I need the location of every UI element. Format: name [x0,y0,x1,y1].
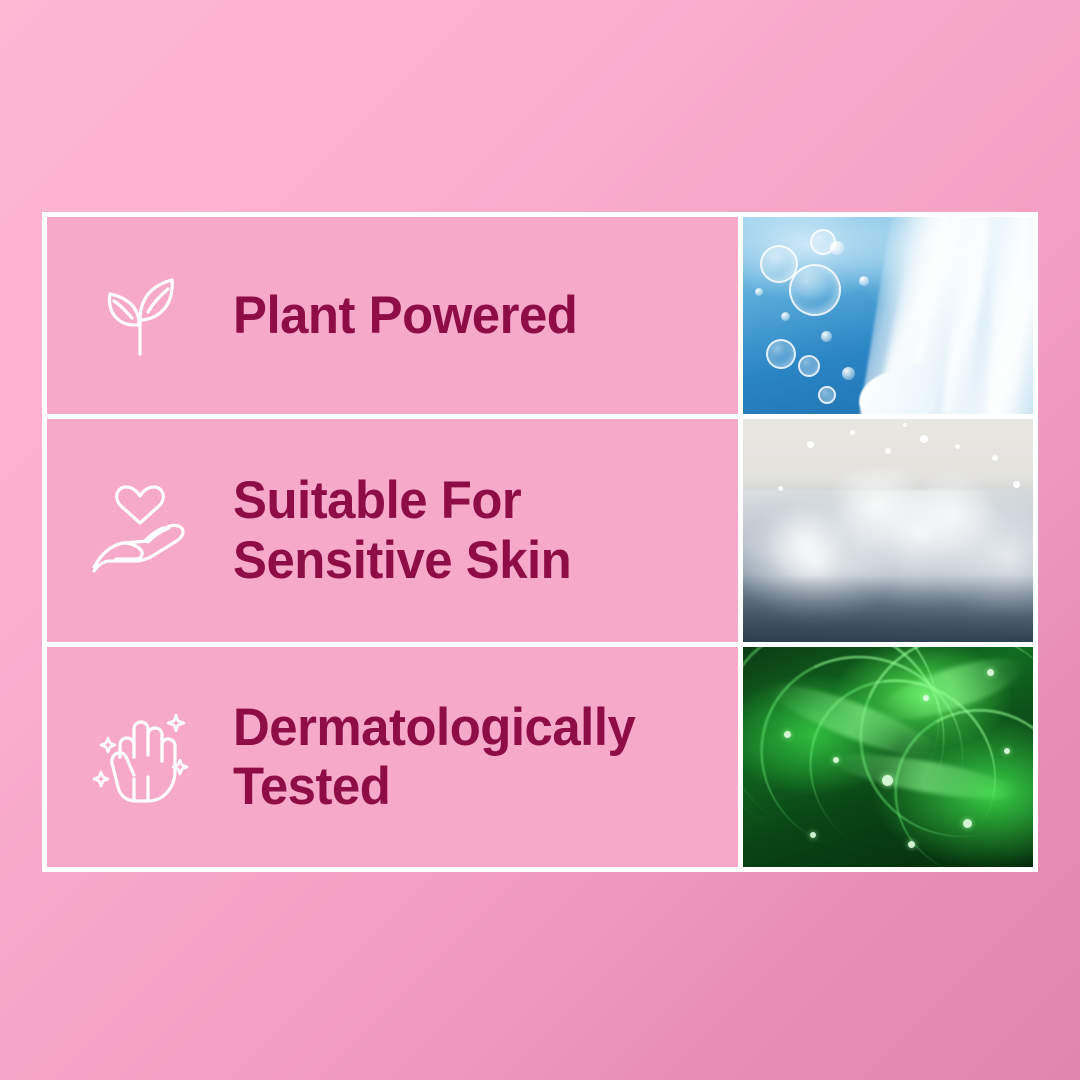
benefit-row-content: Suitable For Sensitive Skin [47,419,738,642]
water-droplet [955,444,960,449]
benefit-image-laundry-in-blue-water [738,217,1033,414]
bubble [755,288,763,296]
algae-sparkle [908,841,915,848]
water-scene [743,217,1033,414]
benefit-image-green-algae [738,647,1033,867]
bubble [789,264,841,316]
algae-sparkle [987,669,994,676]
water-droplet [807,441,814,448]
water-droplet [850,430,855,435]
benefit-row-plant-powered: Plant Powered [47,217,1033,419]
bubble [842,367,855,380]
bubble [781,312,790,321]
algae-sparkle [833,757,839,763]
algae-sparkle [810,832,816,838]
algae-sparkle [882,775,893,786]
water-droplet [778,486,783,491]
benefits-card: Plant Powered [42,212,1038,872]
algae-sparkle [963,819,972,828]
benefit-label: Dermatologically Tested [233,698,635,817]
water-droplet [920,435,928,443]
benefit-label: Suitable For Sensitive Skin [233,471,571,590]
benefit-row-dermatologically-tested: Dermatologically Tested [47,647,1033,867]
hand-holding-heart-icon [47,481,233,581]
plant-sprout-icon [47,268,233,364]
bubble [798,355,820,377]
bubble [859,276,869,286]
bubble [830,241,844,255]
benefit-row-sensitive-skin: Suitable For Sensitive Skin [47,419,1033,647]
algae-sparkle [784,731,791,738]
splash-scene [743,419,1033,642]
algae-scene [743,647,1033,867]
bubble [821,331,832,342]
benefit-row-content: Plant Powered [47,217,738,414]
benefit-row-content: Dermatologically Tested [47,647,738,867]
benefit-label: Plant Powered [233,286,577,345]
benefit-image-water-splash [738,419,1033,642]
water-droplet [885,448,891,454]
bubble [818,386,836,404]
sparkling-hand-icon [47,705,233,809]
bubble [766,339,796,369]
splash-deep-water [743,575,1033,642]
water-droplet [903,423,907,427]
